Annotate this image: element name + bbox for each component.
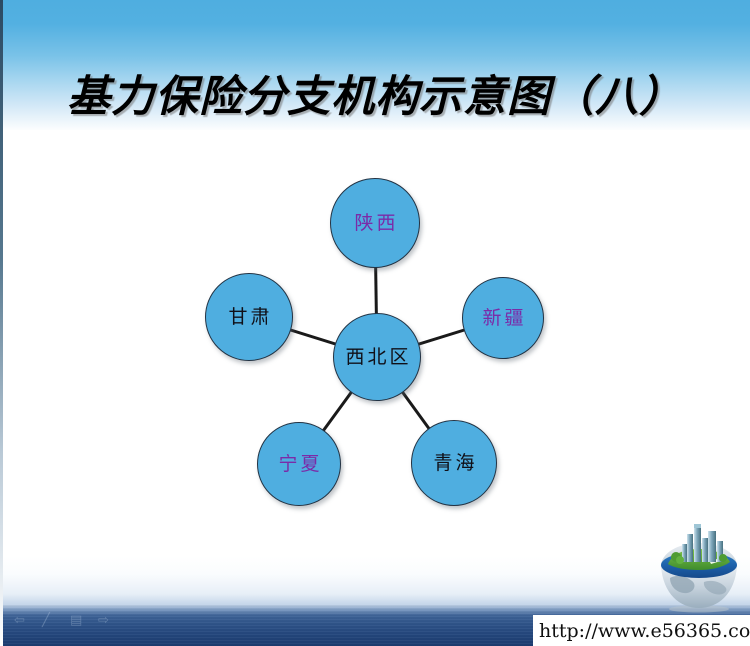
nav-menu-icon[interactable]: ▤: [70, 615, 84, 627]
navigation-marks: ⇦ ╱ ▤ ⇨: [14, 612, 134, 630]
page-title: 基力保险分支机构示意图（八）: [0, 62, 750, 124]
left-border-edge: [0, 0, 3, 646]
nav-back-icon[interactable]: ⇦: [14, 615, 28, 627]
website-url-box: http://www.e56365.com: [533, 615, 750, 646]
slide-canvas: ⇦ ╱ ▤ ⇨ 基力保险分支机构示意图（八） 陕西 新疆 青海 宁夏 甘肃: [0, 0, 750, 646]
nav-pen-icon[interactable]: ╱: [42, 615, 56, 627]
earth-globe-city-logo: [644, 524, 746, 614]
node-qinghai[interactable]: 青海: [411, 420, 497, 506]
node-xinjiang[interactable]: 新疆: [462, 277, 544, 359]
node-shaanxi-label: 陕西: [351, 214, 398, 233]
node-ningxia-label: 宁夏: [275, 455, 322, 474]
website-url[interactable]: http://www.e56365.com: [539, 620, 750, 642]
node-center-label: 西北区: [342, 348, 411, 367]
node-xinjiang-label: 新疆: [479, 309, 526, 328]
node-shaanxi[interactable]: 陕西: [330, 178, 420, 268]
node-gansu[interactable]: 甘肃: [205, 273, 293, 361]
nav-forward-icon[interactable]: ⇨: [98, 615, 112, 627]
node-gansu-label: 甘肃: [225, 308, 272, 327]
node-ningxia[interactable]: 宁夏: [257, 422, 341, 506]
node-qinghai-label: 青海: [430, 454, 477, 473]
node-center-northwest-region[interactable]: 西北区: [333, 313, 421, 401]
